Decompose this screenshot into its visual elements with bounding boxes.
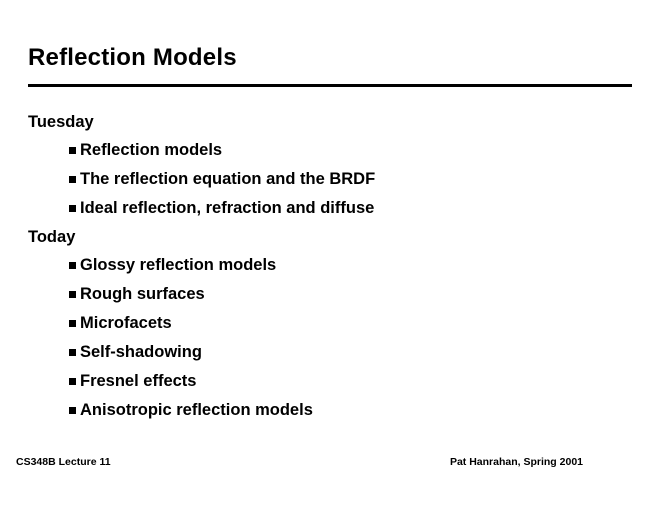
list-item-label: Microfacets xyxy=(80,309,172,338)
list-item: Ideal reflection, refraction and diffuse xyxy=(28,194,632,223)
square-bullet-icon xyxy=(69,407,76,414)
section-today: Today Glossy reflection models Rough sur… xyxy=(28,223,632,425)
list-item-label: Reflection models xyxy=(80,136,222,165)
list-item-label: Rough surfaces xyxy=(80,280,205,309)
list-item: Anisotropic reflection models xyxy=(28,396,632,425)
section-tuesday: Tuesday Reflection models The reflection… xyxy=(28,108,632,223)
square-bullet-icon xyxy=(69,205,76,212)
list-item: Microfacets xyxy=(28,309,632,338)
bullet-list-today: Glossy reflection models Rough surfaces … xyxy=(28,251,632,425)
list-item: Glossy reflection models xyxy=(28,251,632,280)
list-item: Reflection models xyxy=(28,136,632,165)
list-item-label: Glossy reflection models xyxy=(80,251,276,280)
square-bullet-icon xyxy=(69,349,76,356)
bullet-list-tuesday: Reflection models The reflection equatio… xyxy=(28,136,632,223)
list-item-label: Anisotropic reflection models xyxy=(80,396,313,425)
slide-body: Tuesday Reflection models The reflection… xyxy=(28,108,632,425)
slide: Reflection Models Tuesday Reflection mod… xyxy=(0,0,660,510)
square-bullet-icon xyxy=(69,262,76,269)
list-item-label: Fresnel effects xyxy=(80,367,196,396)
list-item-label: Self-shadowing xyxy=(80,338,202,367)
section-heading-tuesday: Tuesday xyxy=(28,108,632,136)
list-item: Fresnel effects xyxy=(28,367,632,396)
section-heading-today: Today xyxy=(28,223,632,251)
list-item: Rough surfaces xyxy=(28,280,632,309)
footer-author-label: Pat Hanrahan, Spring 2001 xyxy=(450,456,583,468)
list-item-label: The reflection equation and the BRDF xyxy=(80,165,375,194)
list-item: The reflection equation and the BRDF xyxy=(28,165,632,194)
square-bullet-icon xyxy=(69,291,76,298)
list-item-label: Ideal reflection, refraction and diffuse xyxy=(80,194,374,223)
title-divider xyxy=(28,84,632,87)
square-bullet-icon xyxy=(69,320,76,327)
list-item: Self-shadowing xyxy=(28,338,632,367)
square-bullet-icon xyxy=(69,176,76,183)
footer-course-label: CS348B Lecture 11 xyxy=(16,456,111,468)
page-title: Reflection Models xyxy=(28,44,237,72)
square-bullet-icon xyxy=(69,147,76,154)
square-bullet-icon xyxy=(69,378,76,385)
